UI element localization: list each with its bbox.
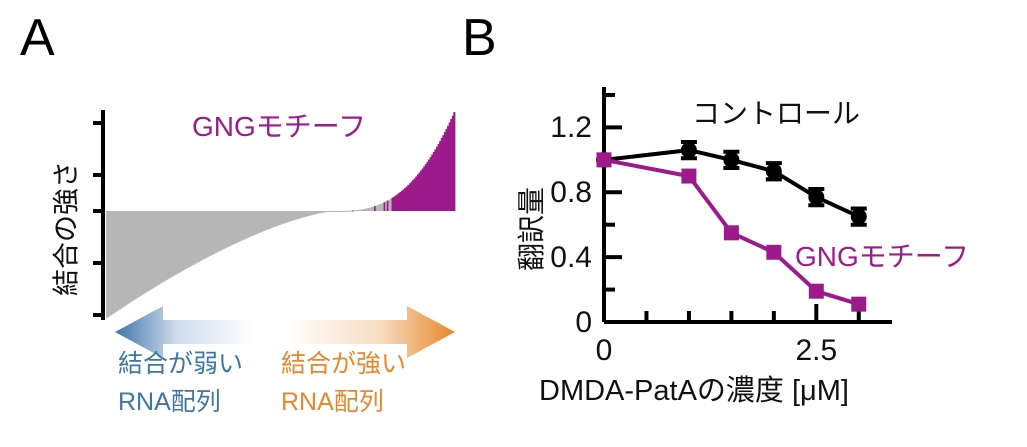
panel-b-data-point [851,297,866,312]
panel-b-x-tick-label: 0 [569,334,639,368]
panel-b-data-point [681,142,697,158]
panel-b-data-point [808,189,824,205]
panel-b-y-axis-label: 翻訳量 [518,149,546,309]
panel-b-data-point [597,152,612,167]
panel-b-data-point [809,284,824,299]
figure-root: A B [0,0,1027,447]
panel-b-plot [0,0,1027,447]
panel-b-data-point [723,152,739,168]
panel-b-control-label: コントロール [692,100,860,128]
panel-b-data-point [724,225,739,240]
panel-b-data-point [851,209,867,225]
panel-b-data-point [766,245,781,260]
panel-b-series-group [596,142,867,312]
panel-b-x-tick-label: 2.5 [781,334,851,368]
panel-b-y-tick-label: 0.8 [522,176,592,210]
panel-b-y-tick-label: 1.2 [522,111,592,145]
panel-b-data-point [766,163,782,179]
panel-b-x-axis-label: DMDA-PatAの濃度 [μM] [539,377,849,406]
panel-b-y-tick-label: 0.4 [522,241,592,275]
panel-b-data-point [681,169,696,184]
panel-b-gng-motif-label: GNGモチーフ [795,243,969,271]
